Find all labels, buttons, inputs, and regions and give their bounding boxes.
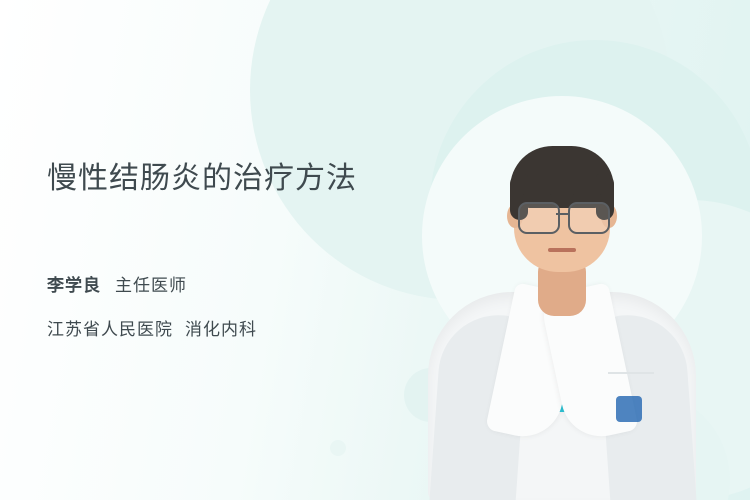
doctor-title: 主任医师 xyxy=(115,276,187,295)
glasses-lens-left xyxy=(518,202,560,234)
coat-pocket xyxy=(608,372,654,374)
eyebrow-right xyxy=(572,194,602,199)
portrait-illustration xyxy=(422,96,702,500)
mouth xyxy=(548,248,576,252)
doctor-portrait xyxy=(422,96,702,500)
id-badge xyxy=(616,396,642,422)
doctor-name: 李学良 xyxy=(47,276,101,295)
hospital-name: 江苏省人民医院 xyxy=(47,320,173,339)
glasses-lens-right xyxy=(568,202,610,234)
page-title: 慢性结肠炎的治疗方法 xyxy=(47,160,447,198)
doctor-byline: 李学良主任医师 xyxy=(47,271,447,296)
glasses-bridge xyxy=(556,213,568,215)
eyebrow-left xyxy=(522,194,552,199)
doctor-affiliation: 江苏省人民医院消化内科 xyxy=(47,315,447,340)
department-name: 消化内科 xyxy=(185,320,257,339)
text-block: 慢性结肠炎的治疗方法 李学良主任医师 江苏省人民医院消化内科 xyxy=(47,160,447,340)
decorative-circle-dot xyxy=(330,440,346,456)
video-cover-card: 慢性结肠炎的治疗方法 李学良主任医师 江苏省人民医院消化内科 xyxy=(0,0,750,500)
